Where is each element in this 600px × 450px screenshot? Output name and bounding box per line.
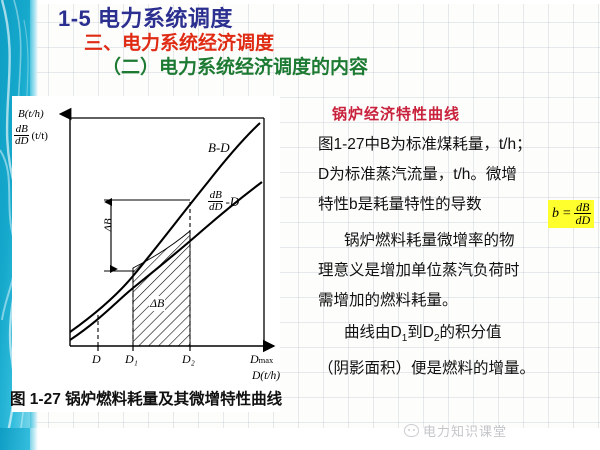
formula-denominator: dD <box>574 214 591 226</box>
x-tick-label-D2: D₂ <box>182 352 195 367</box>
para3-seg-c: 的积分值 <box>440 324 502 341</box>
content-para2-line-3: 需增加的燃料耗量。 <box>318 286 598 316</box>
annotation-delta-B-shaded: ΔB <box>149 296 165 311</box>
curve-label-suffix: -D <box>225 194 239 210</box>
slide-title-block: 1-5 电力系统调度 三、电力系统经济调度 （二）电力系统经济调度的内容 <box>0 0 600 92</box>
watermark: 电力知识课堂 <box>404 421 507 440</box>
slide-title-sub2: （二）电力系统经济调度的内容 <box>58 56 600 80</box>
curve-label-B-D: B-D <box>208 140 230 156</box>
y-axis-frac-denominator: dD <box>14 136 29 147</box>
content-para3-line-2: （阴影面积）便是燃料的增量。 <box>318 354 598 384</box>
y-axis-fraction: dB dD <box>14 124 29 147</box>
y-axis-unit: (t/t) <box>31 130 48 142</box>
slide-title-sub1: 三、电力系统经济调度 <box>58 32 600 56</box>
content-para2-line-1: 锅炉燃料耗量微增率的物 <box>318 226 598 256</box>
bottom-strip <box>0 428 600 450</box>
curve-label-fraction: dB dD <box>208 190 223 213</box>
y-axis-label-derivative: dB dD (t/t) <box>14 124 48 147</box>
curve-label-dBdD-D: dB dD -D <box>208 190 239 213</box>
formula-equals: = <box>562 206 571 222</box>
content-line-1: 图1-27中B为标准煤耗量，t/h； <box>318 130 598 160</box>
y-axis-label-B: B(t/h) <box>18 108 44 120</box>
highlighted-formula: b = dB dD <box>548 200 594 228</box>
boiler-characteristic-chart <box>12 96 280 412</box>
x-axis-unit-label: D(t/h) <box>252 370 280 382</box>
content-line-2: D为标准蒸汽流量，t/h。微增 <box>318 160 598 190</box>
para3-seg-b: 到D <box>407 324 434 341</box>
x-tick-label-D1: D₁ <box>125 352 138 367</box>
x-tick-label-D: D <box>92 352 101 367</box>
content-para3-line-1: 曲线由D1到D2的积分值 <box>318 318 598 354</box>
figure-caption: 图 1-27 锅炉燃料耗量及其微增特性曲线 <box>10 387 300 409</box>
content-heading: 锅炉经济特性曲线 <box>318 104 598 126</box>
x-tick-label-Dmax: Dmax <box>250 352 273 367</box>
formula-lhs: b <box>552 206 559 222</box>
slide-title-main: 1-5 电力系统调度 <box>58 5 600 32</box>
para3-seg-a: 曲线由D <box>344 324 402 341</box>
bottom-teal-block <box>0 428 30 450</box>
formula-fraction: dB dD <box>574 201 591 226</box>
cloud-face-icon <box>404 424 419 437</box>
annotation-delta-B-upper: ΔB <box>103 218 115 231</box>
bottom-teal-fade <box>30 428 38 450</box>
figure-panel: B(t/h) dB dD (t/t) B-D dB dD -D ΔB ΔB D … <box>12 96 280 412</box>
curve-frac-denominator: dD <box>208 202 223 213</box>
watermark-text: 电力知识课堂 <box>423 421 507 440</box>
content-para2-line-2: 理意义是增加单位蒸汽负荷时 <box>318 256 598 286</box>
content-column: 锅炉经济特性曲线 图1-27中B为标准煤耗量，t/h； D为标准蒸汽流量，t/h… <box>318 104 598 424</box>
